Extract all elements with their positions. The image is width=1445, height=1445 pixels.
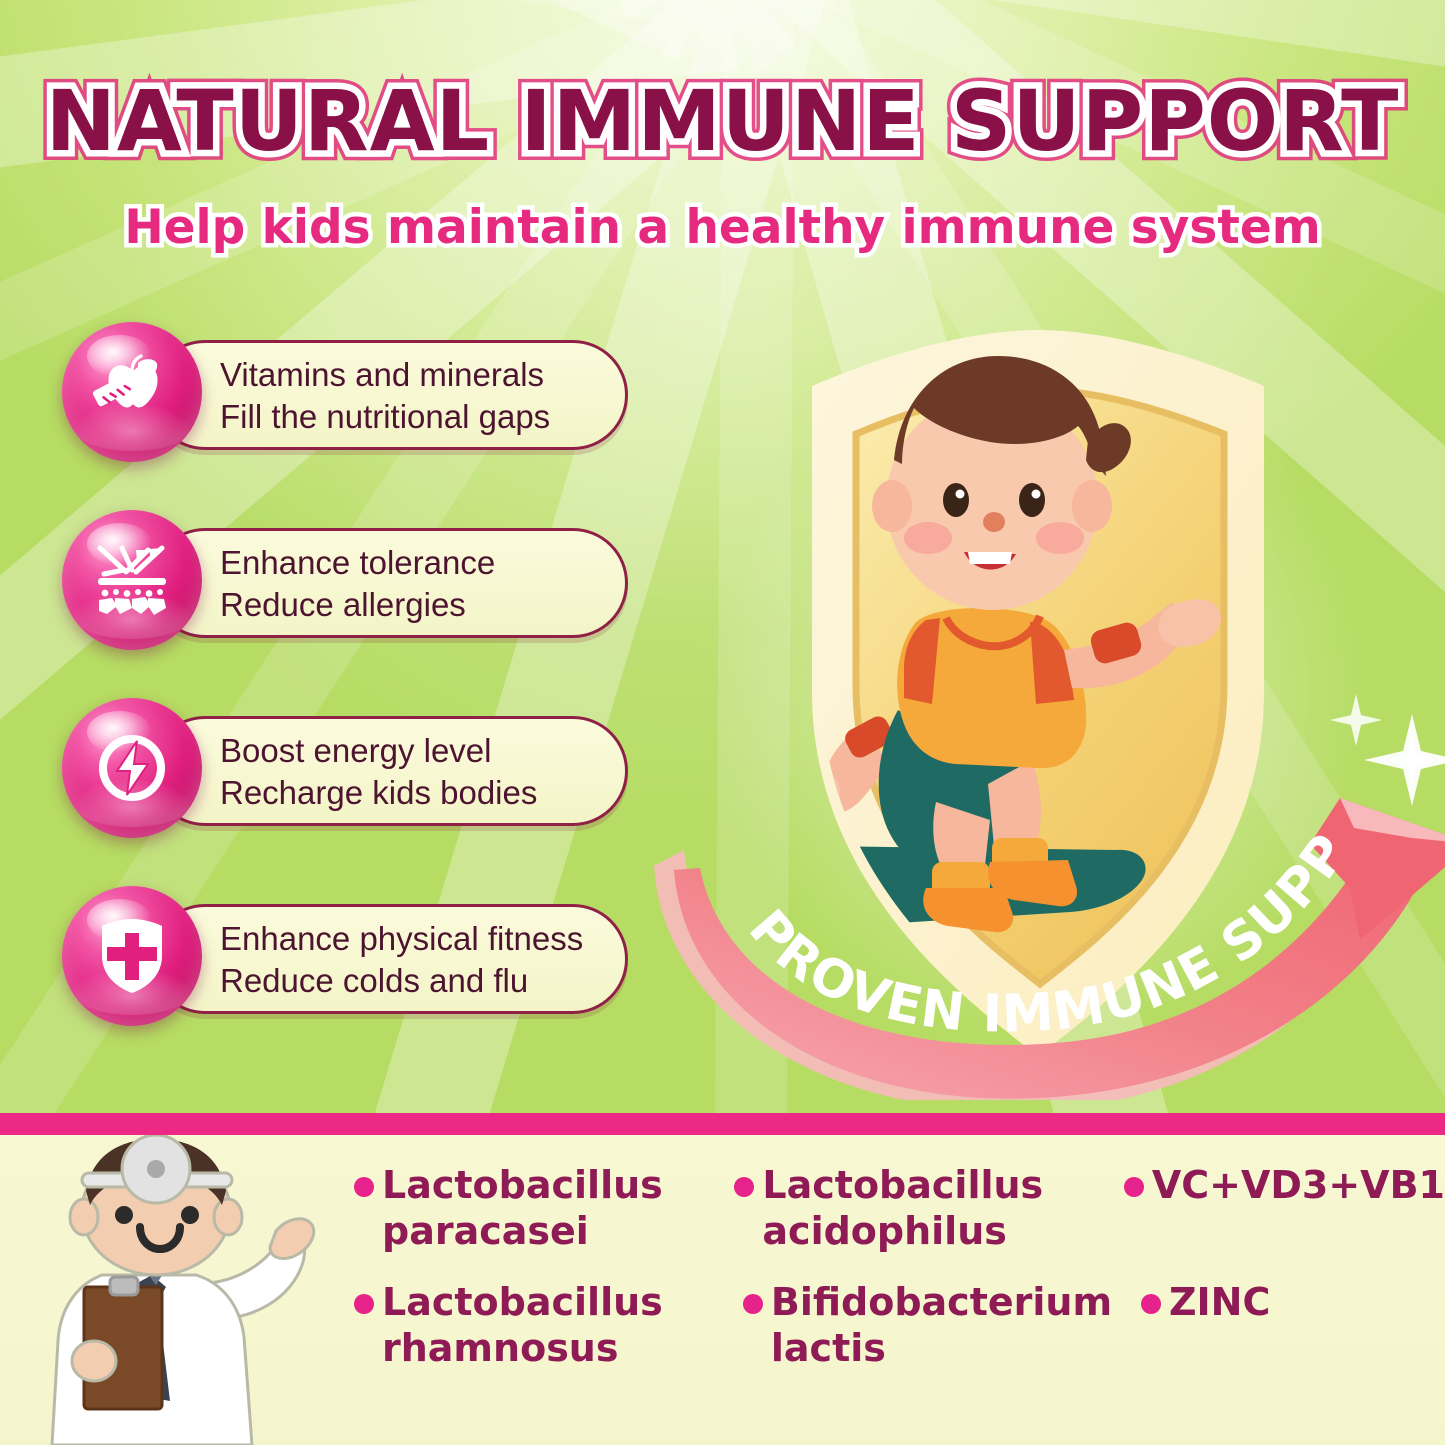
feature-line-1: Enhance physical fitness: [220, 918, 620, 960]
feature-text: Vitamins and minerals Fill the nutrition…: [220, 354, 620, 438]
feature-list: Vitamins and minerals Fill the nutrition…: [62, 322, 622, 1074]
doctor-left-hand: [72, 1341, 116, 1381]
ingredients-section: Lactobacillus paracasei Lactobacillus ac…: [0, 1135, 1445, 1445]
ingredient-item: Lactobacillus paracasei: [352, 1163, 732, 1254]
feature-line-2: Recharge kids bodies: [220, 772, 620, 814]
boy-right-cheek: [1036, 522, 1084, 554]
feature-line-2: Reduce colds and flu: [220, 960, 620, 1002]
page-subtitle: Help kids maintain a healthy immune syst…: [0, 200, 1445, 255]
sparkle-icon: [1364, 714, 1445, 806]
ingredients-row: Lactobacillus paracasei Lactobacillus ac…: [352, 1163, 1445, 1254]
ingredient-item: ZINC: [1139, 1280, 1445, 1371]
shield-cross-icon: [96, 916, 168, 996]
apple-ruler-icon: [91, 351, 173, 433]
bullet-icon: [743, 1294, 763, 1314]
feature-line-1: Enhance tolerance: [220, 542, 620, 584]
boy-teeth: [968, 552, 1012, 564]
feature-item: Enhance tolerance Reduce allergies: [62, 510, 622, 650]
ingredient-label: VC+VD3+VB1: [1152, 1163, 1445, 1207]
lightning-bolt-icon: [93, 729, 171, 807]
feature-text: Enhance tolerance Reduce allergies: [220, 542, 620, 626]
feature-icon-bubble: [62, 510, 202, 650]
feature-line-2: Reduce allergies: [220, 584, 620, 626]
ingredient-item: Lactobacillus rhamnosus: [352, 1280, 741, 1371]
ingredient-item: Bifidobacterium lactis: [741, 1280, 1139, 1371]
ingredient-label: Lactobacillus rhamnosus: [382, 1280, 663, 1370]
boy-left-eye: [943, 483, 969, 517]
ingredient-label: Lactobacillus paracasei: [382, 1163, 663, 1253]
head-mirror-center: [147, 1160, 165, 1178]
ingredients-list: Lactobacillus paracasei Lactobacillus ac…: [352, 1163, 1445, 1371]
section-divider: [0, 1113, 1445, 1135]
feature-item: Vitamins and minerals Fill the nutrition…: [62, 322, 622, 462]
boy-nose: [983, 512, 1005, 532]
page-title: NATURAL IMMUNE SUPPORT: [0, 72, 1445, 170]
boy-right-ear: [1072, 480, 1112, 532]
bullet-icon: [1141, 1294, 1161, 1314]
bullet-icon: [354, 1177, 374, 1197]
bullet-icon: [1124, 1177, 1144, 1197]
doctor-character: [14, 1135, 344, 1445]
bullet-icon: [734, 1177, 754, 1197]
feature-item: Enhance physical fitness Reduce colds an…: [62, 886, 622, 1026]
ingredient-label: ZINC: [1169, 1280, 1270, 1324]
feature-icon-bubble: [62, 886, 202, 1026]
feature-line-1: Boost energy level: [220, 730, 620, 772]
doctor-left-ear: [70, 1199, 98, 1235]
feature-line-2: Fill the nutritional gaps: [220, 396, 620, 438]
ingredient-item: Lactobacillus acidophilus: [732, 1163, 1121, 1254]
doctor-right-ear: [214, 1199, 242, 1235]
feature-item: Boost energy level Recharge kids bodies: [62, 698, 622, 838]
skin-barrier-arrows-icon: [92, 540, 172, 620]
feature-text: Boost energy level Recharge kids bodies: [220, 730, 620, 814]
top-section: NATURAL IMMUNE SUPPORT NATURAL IMMUNE SU…: [0, 0, 1445, 1113]
boy-right-eye: [1019, 483, 1045, 517]
feature-icon-bubble: [62, 698, 202, 838]
ingredient-label: Bifidobacterium lactis: [771, 1280, 1112, 1370]
ingredient-item: VC+VD3+VB1: [1122, 1163, 1445, 1254]
feature-text: Enhance physical fitness Reduce colds an…: [220, 918, 620, 1002]
ingredient-label: Lactobacillus acidophilus: [762, 1163, 1043, 1253]
doctor-left-eye: [115, 1206, 133, 1224]
boy-left-ear: [872, 480, 912, 532]
bullet-icon: [354, 1294, 374, 1314]
feature-icon-bubble: [62, 322, 202, 462]
product-infographic: NATURAL IMMUNE SUPPORT NATURAL IMMUNE SU…: [0, 0, 1445, 1445]
boy-left-cheek: [904, 522, 952, 554]
hero-illustration: PROVEN IMMUNE SUPPORT: [640, 290, 1445, 1100]
clipboard-clip: [110, 1277, 138, 1295]
hero-shield-boy-graphic: PROVEN IMMUNE SUPPORT: [640, 290, 1445, 1100]
ingredients-row: Lactobacillus rhamnosus Bifidobacterium …: [352, 1280, 1445, 1371]
feature-line-1: Vitamins and minerals: [220, 354, 620, 396]
doctor-right-eye: [181, 1206, 199, 1224]
doctor-hand: [270, 1219, 314, 1259]
